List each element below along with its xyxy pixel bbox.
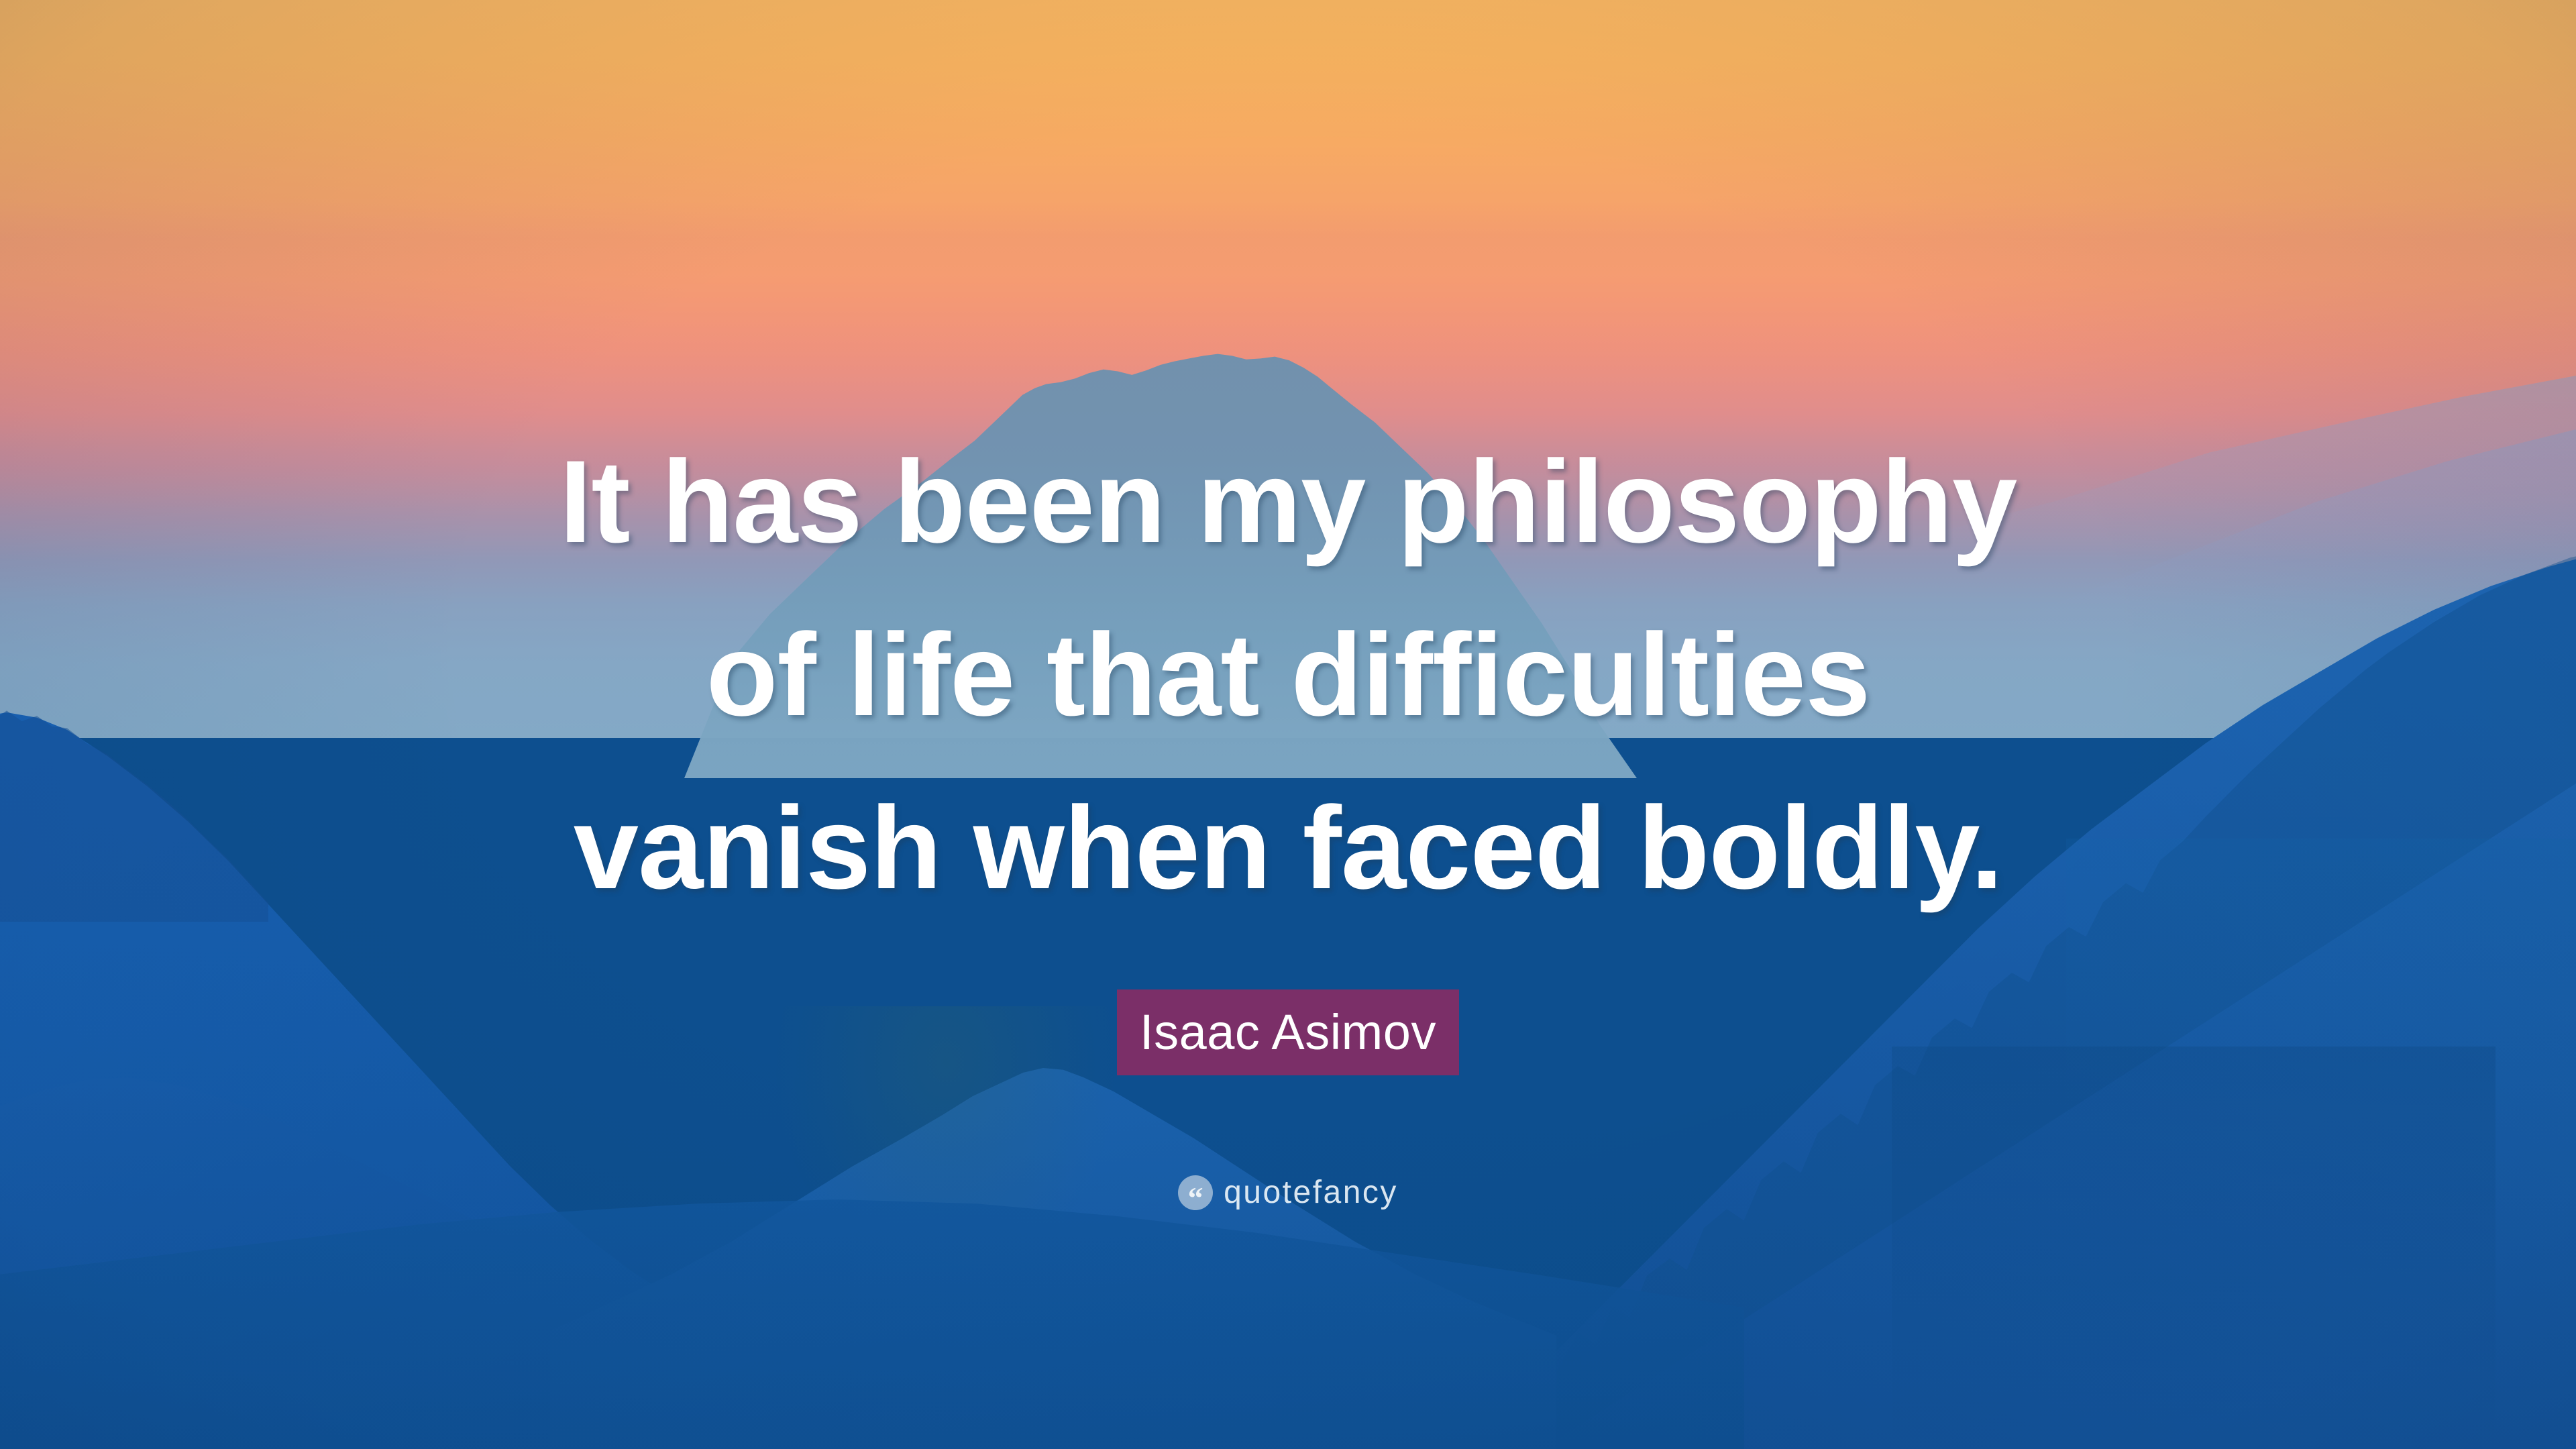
quotefancy-watermark[interactable]: “ quotefancy [0, 1174, 2576, 1211]
quote-line-2: of life that difficulties [0, 589, 2576, 762]
quote-text: It has been my philosophy of life that d… [0, 416, 2576, 935]
author-name-badge[interactable]: Isaac Asimov [1117, 989, 1459, 1075]
quote-poster: It has been my philosophy of life that d… [0, 0, 2576, 1449]
quote-line-1: It has been my philosophy [0, 416, 2576, 589]
quote-mark-icon: “ [1178, 1175, 1213, 1210]
author-attribution: Isaac Asimov [0, 989, 2576, 1075]
quote-line-3: vanish when faced boldly. [0, 762, 2576, 935]
right-mountain-valley-shadow [1892, 1046, 2495, 1449]
watermark-brand-label: quotefancy [1224, 1174, 1398, 1211]
